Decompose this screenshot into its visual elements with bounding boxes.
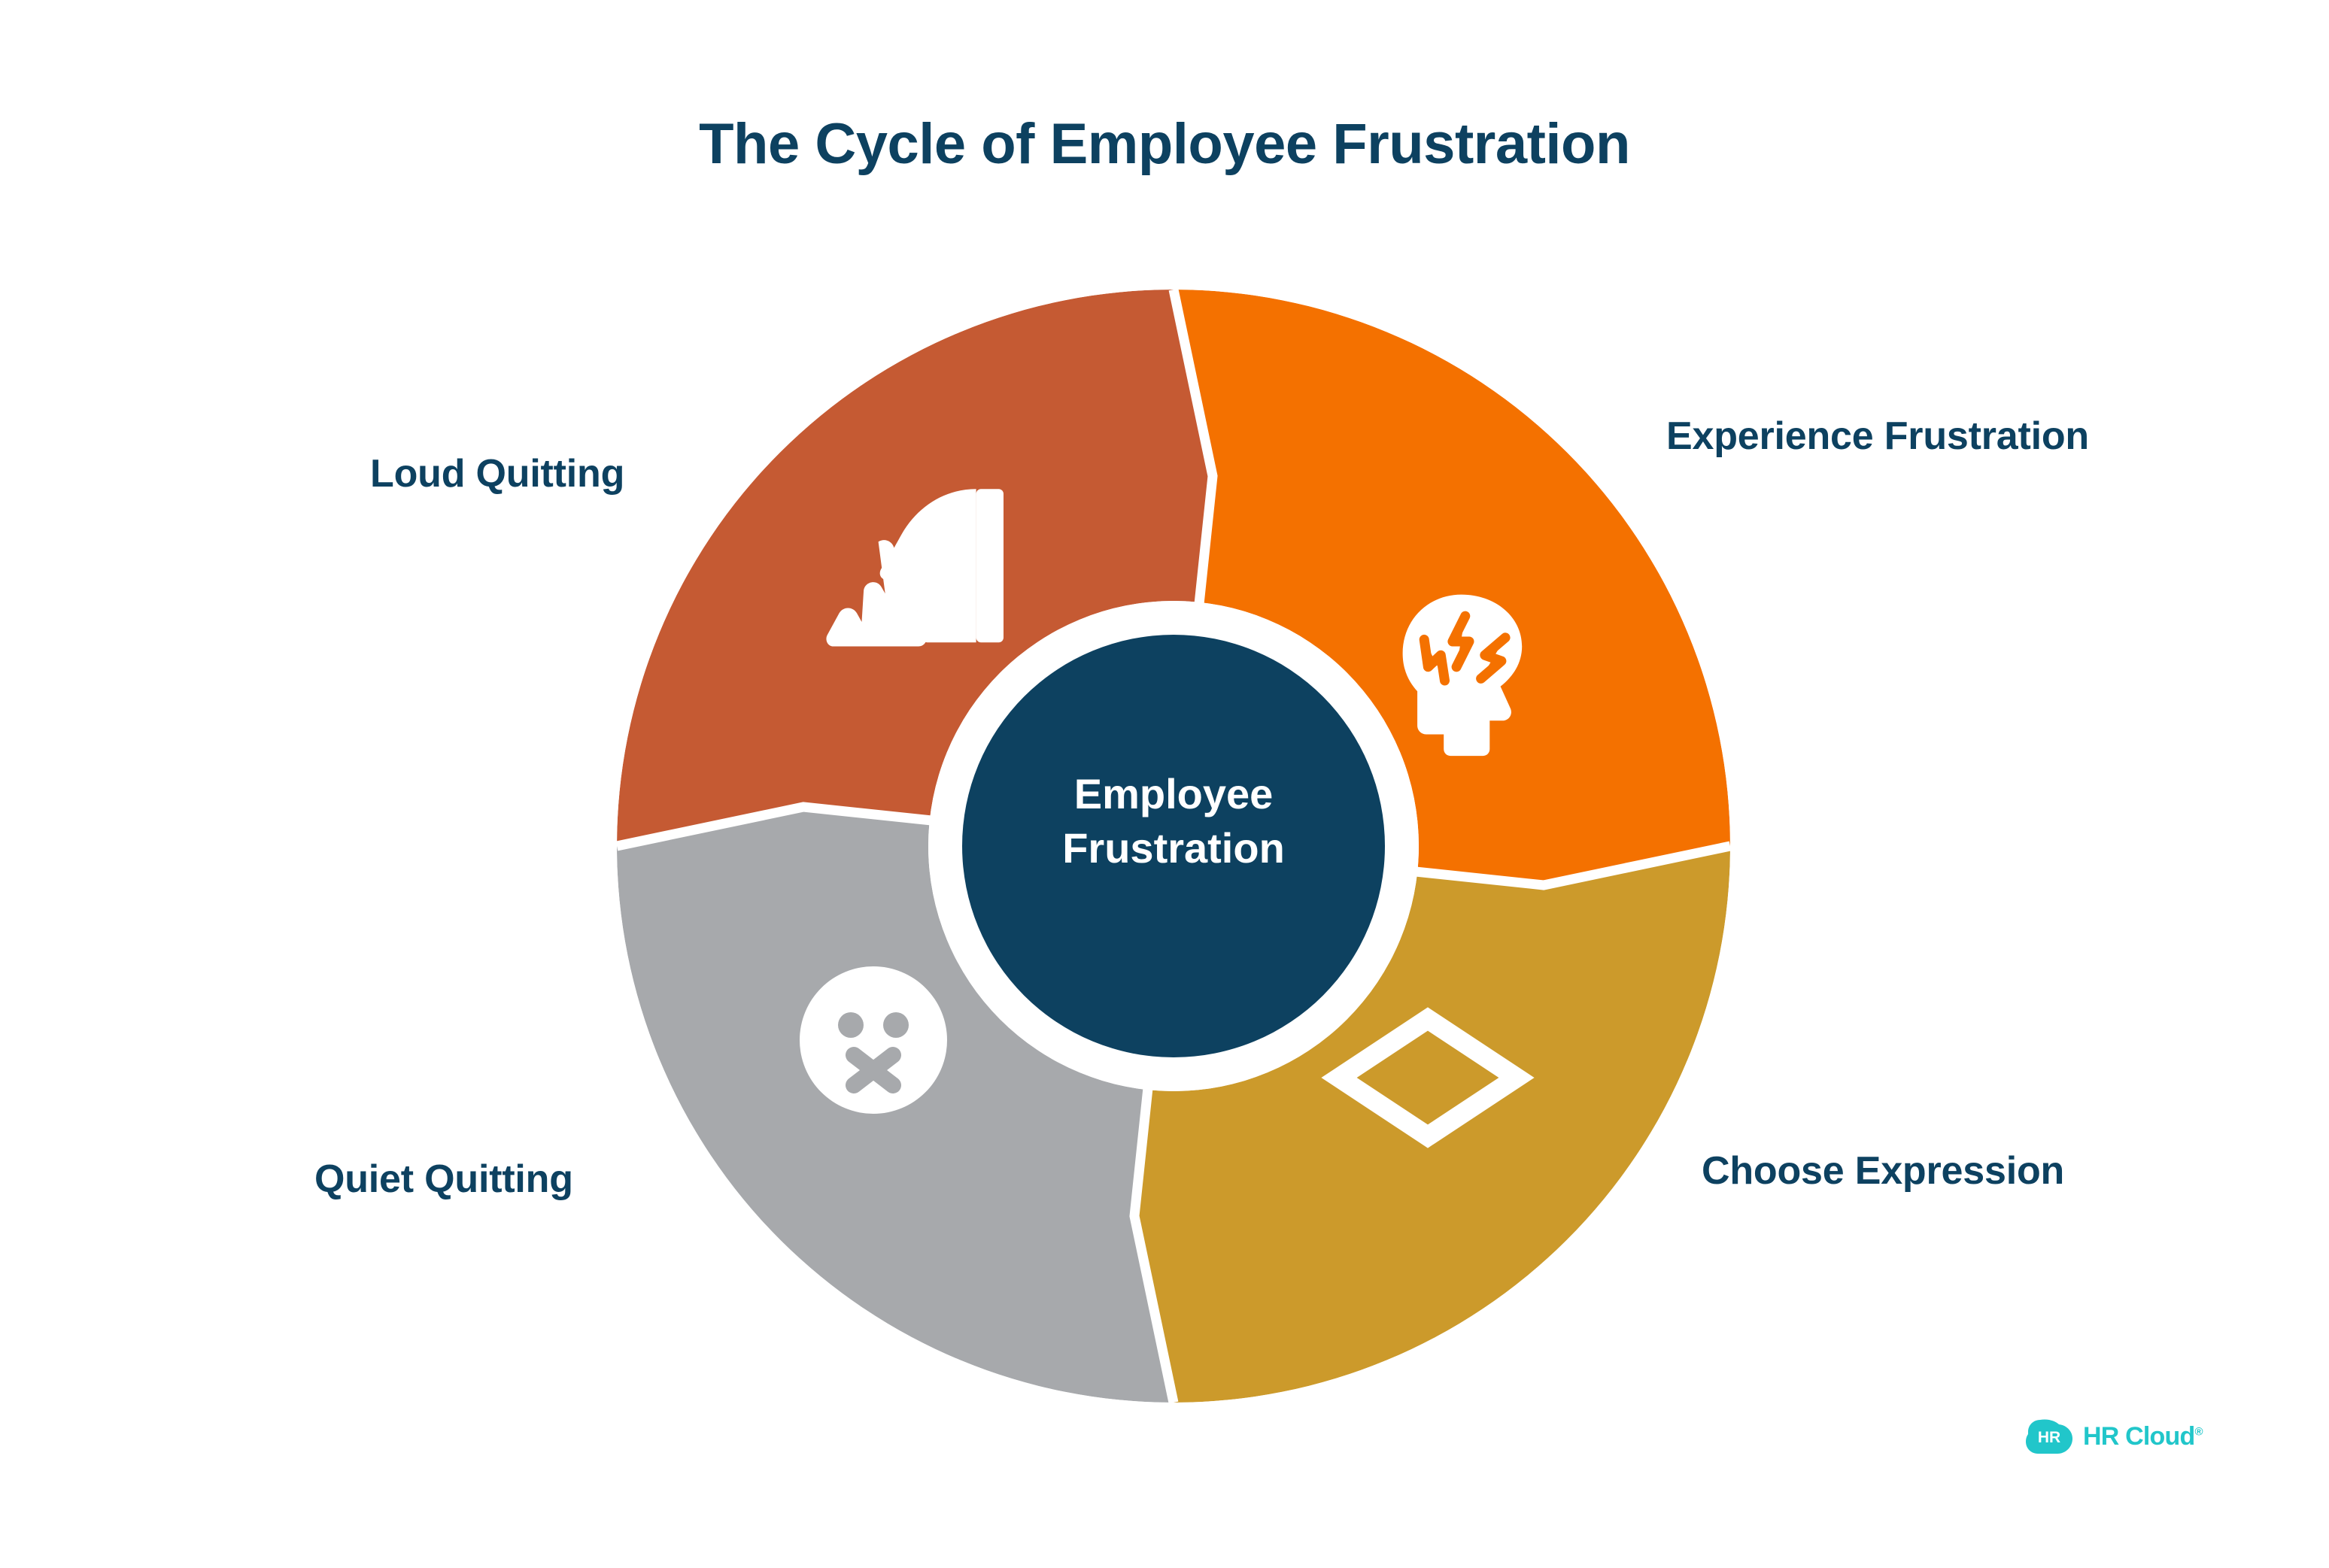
cloud-icon: HR [2025,1417,2073,1456]
infographic-canvas: The Cycle of Employee Frustration [0,0,2329,1568]
hr-cloud-logo[interactable]: HR HR Cloud® [2025,1417,2203,1456]
registered-mark: ® [2194,1425,2202,1438]
segment-label-quiet-quitting[interactable]: Quiet Quitting [314,1157,573,1202]
segment-label-loud-quitting[interactable]: Loud Quitting [370,451,624,496]
silenced-face-icon [800,966,947,1114]
segment-label-experience-frustration[interactable]: Experience Frustration [1666,414,2089,459]
face-eye-right [883,1012,909,1038]
face-eye-left [838,1012,864,1038]
logo-word-text: HR Cloud [2083,1422,2194,1451]
cycle-wheel [617,290,1730,1403]
logo-wordmark: HR Cloud® [2083,1422,2203,1451]
page-title: The Cycle of Employee Frustration [0,111,2329,177]
cycle-wheel-svg [617,290,1730,1403]
segment-label-choose-expression[interactable]: Choose Expression [1702,1148,2064,1193]
cloud-icon-text: HR [2038,1429,2060,1446]
hub-circle [962,635,1385,1057]
